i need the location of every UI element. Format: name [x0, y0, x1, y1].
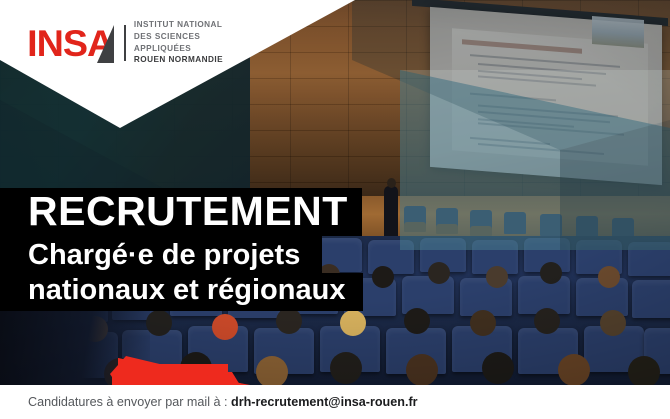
logo-line-2: DES SCIENCES	[134, 32, 223, 43]
insa-logo: INSA INSTITUT NATIONAL DES SCIENCES APPL…	[28, 20, 223, 66]
footer-application-line: Candidatures à envoyer par mail à : drh-…	[28, 395, 418, 409]
headline-role-line1: Chargé·e de projets	[28, 240, 300, 271]
insa-wedge-icon	[97, 25, 114, 63]
footer-prefix: Candidatures à envoyer par mail à :	[28, 395, 231, 409]
insa-wordmark: INSA	[28, 25, 112, 62]
logo-line-1: INSTITUT NATIONAL	[134, 20, 223, 31]
headline-role-line2-box: nationaux et régionaux	[0, 273, 363, 311]
logo-line-3: APPLIQUÉES	[134, 44, 223, 55]
logo-subtitle-lines: INSTITUT NATIONAL DES SCIENCES APPLIQUÉE…	[134, 20, 223, 66]
headline-role-line2: nationaux et régionaux	[28, 275, 345, 306]
logo-divider	[124, 25, 126, 61]
headline-kicker: RECRUTEMENT	[28, 191, 348, 233]
logo-line-4: ROUEN NORMANDIE	[134, 55, 223, 66]
headline-kicker-box: RECRUTEMENT	[0, 188, 362, 236]
recruitment-banner: INSA INSTITUT NATIONAL DES SCIENCES APPL…	[0, 0, 670, 419]
footer-email: drh-recrutement@insa-rouen.fr	[231, 395, 418, 409]
footer-bar: Candidatures à envoyer par mail à : drh-…	[0, 385, 670, 419]
headline-role-line1-box: Chargé·e de projets	[0, 236, 322, 273]
